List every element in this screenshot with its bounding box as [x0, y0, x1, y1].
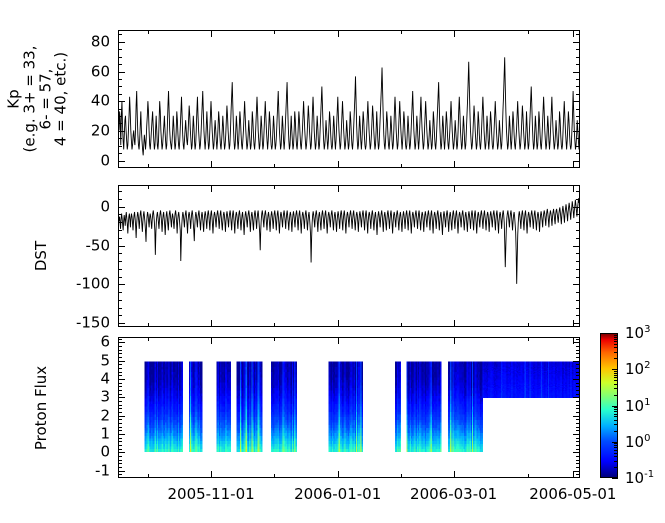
y-tick-major-right — [573, 452, 580, 453]
colorbar-tick-minor — [614, 420, 618, 421]
y-tick-minor — [118, 300, 122, 301]
y-tick-minor-right — [576, 372, 580, 373]
kp-trace — [119, 31, 579, 167]
y-tick-label: 5 — [100, 353, 110, 368]
y-tick-label: 3 — [100, 390, 110, 405]
y-tick-minor — [118, 419, 122, 420]
y-tick-label: -1 — [95, 463, 110, 478]
kp-panel — [118, 30, 580, 168]
y-tick-minor-right — [576, 86, 580, 87]
y-tick-minor — [118, 57, 122, 58]
y-tick-minor — [118, 386, 122, 387]
x-tick-minor — [274, 474, 275, 478]
x-tick-minor-top — [528, 185, 529, 189]
y-tick-minor — [118, 138, 122, 139]
y-tick-minor-right — [576, 463, 580, 464]
x-tick-minor — [528, 474, 529, 478]
colorbar-tick-minor — [614, 344, 618, 345]
y-tick-minor-right — [576, 191, 580, 192]
colorbar-tick-minor — [614, 447, 618, 448]
y-tick-minor — [118, 116, 122, 117]
y-tick-minor — [118, 261, 122, 262]
y-tick-minor-right — [576, 292, 580, 293]
y-tick-minor-right — [576, 350, 580, 351]
y-tick-minor — [118, 357, 122, 358]
x-tick-minor-top — [274, 337, 275, 341]
y-tick-minor-right — [576, 300, 580, 301]
x-tick-minor — [148, 323, 149, 327]
y-tick-minor — [118, 346, 122, 347]
colorbar-tick-minor — [614, 431, 618, 432]
x-tick-minor-top — [148, 337, 149, 341]
y-tick-major — [118, 416, 125, 417]
y-tick-minor — [118, 405, 122, 406]
y-tick-major-right — [573, 434, 580, 435]
y-tick-minor — [118, 214, 122, 215]
y-tick-minor-right — [576, 308, 580, 309]
y-tick-minor — [118, 364, 122, 365]
y-tick-label: 2 — [100, 408, 110, 423]
y-tick-minor — [118, 86, 122, 87]
y-tick-minor — [118, 222, 122, 223]
y-tick-minor — [118, 64, 122, 65]
x-tick-minor-top — [528, 30, 529, 34]
y-tick-label: 0 — [100, 199, 110, 214]
colorbar-tick-major — [612, 478, 618, 479]
x-tick-minor — [274, 323, 275, 327]
x-tick-minor-top — [528, 337, 529, 341]
x-tick-label: 2006-03-01 — [410, 487, 497, 502]
y-tick-minor — [118, 375, 122, 376]
y-tick-minor — [118, 449, 122, 450]
x-tick-major — [454, 320, 455, 327]
y-tick-label: 1 — [100, 427, 110, 442]
y-tick-minor — [118, 372, 122, 373]
y-tick-minor-right — [576, 199, 580, 200]
colorbar-tick-label: 103 — [625, 325, 650, 341]
kp-plot-area — [119, 31, 579, 167]
y-tick-label: 0 — [100, 153, 110, 168]
x-tick-major — [211, 161, 212, 168]
y-tick-minor — [118, 191, 122, 192]
y-tick-minor-right — [576, 315, 580, 316]
y-tick-minor-right — [576, 94, 580, 95]
y-tick-minor-right — [576, 222, 580, 223]
y-tick-minor — [118, 153, 122, 154]
y-tick-minor-right — [576, 153, 580, 154]
y-tick-minor-right — [576, 430, 580, 431]
y-tick-minor-right — [576, 438, 580, 439]
y-tick-minor — [118, 238, 122, 239]
y-tick-label: 20 — [91, 123, 110, 138]
y-tick-minor — [118, 269, 122, 270]
y-tick-major — [118, 246, 125, 247]
x-tick-major-top — [338, 185, 339, 192]
y-tick-minor-right — [576, 375, 580, 376]
x-tick-major-top — [454, 337, 455, 344]
axis-title-line: 4 = 40, etc.) — [54, 0, 70, 199]
colorbar-tick-minor — [614, 384, 618, 385]
x-tick-minor-top — [401, 185, 402, 189]
x-tick-major — [338, 320, 339, 327]
y-tick-minor-right — [576, 427, 580, 428]
x-tick-minor-top — [401, 337, 402, 341]
y-tick-minor-right — [576, 109, 580, 110]
y-tick-minor — [118, 401, 122, 402]
colorbar-tick-label: 100 — [625, 434, 650, 450]
y-tick-major-right — [573, 379, 580, 380]
x-tick-major-top — [338, 30, 339, 37]
y-tick-minor — [118, 412, 122, 413]
x-tick-minor — [148, 474, 149, 478]
y-tick-label: 80 — [91, 34, 110, 49]
y-tick-minor-right — [576, 368, 580, 369]
proton-flux-plot-area — [119, 338, 579, 477]
y-tick-minor-right — [576, 34, 580, 35]
y-tick-minor-right — [576, 277, 580, 278]
y-tick-minor — [118, 463, 122, 464]
colorbar-tick-minor — [614, 388, 618, 389]
y-tick-label: 6 — [100, 335, 110, 350]
y-tick-minor-right — [576, 394, 580, 395]
x-tick-minor — [274, 164, 275, 168]
colorbar-tick-minor — [614, 461, 618, 462]
colorbar-tick-minor — [614, 409, 618, 410]
x-tick-minor-top — [274, 30, 275, 34]
colorbar-tick-minor — [614, 375, 618, 376]
colorbar-tick-label: 10-1 — [625, 470, 654, 486]
y-tick-major — [118, 284, 125, 285]
y-tick-major-right — [573, 161, 580, 162]
y-tick-minor-right — [576, 390, 580, 391]
y-tick-minor-right — [576, 269, 580, 270]
colorbar-tick-minor — [614, 371, 618, 372]
y-tick-minor — [118, 445, 122, 446]
x-tick-minor — [401, 323, 402, 327]
colorbar-tick-minor — [614, 407, 618, 408]
y-tick-minor-right — [576, 253, 580, 254]
y-tick-minor — [118, 350, 122, 351]
x-tick-label: 2006-01-01 — [294, 487, 381, 502]
y-tick-minor — [118, 390, 122, 391]
y-tick-minor — [118, 394, 122, 395]
y-tick-minor-right — [576, 49, 580, 50]
y-tick-minor-right — [576, 383, 580, 384]
y-tick-minor — [118, 456, 122, 457]
x-tick-major — [211, 320, 212, 327]
y-tick-minor-right — [576, 123, 580, 124]
x-tick-major-top — [211, 337, 212, 344]
x-tick-major — [573, 320, 574, 327]
y-tick-minor — [118, 438, 122, 439]
y-tick-minor-right — [576, 474, 580, 475]
colorbar-tick-minor — [614, 377, 618, 378]
x-tick-minor-top — [401, 30, 402, 34]
colorbar-tick-minor — [614, 373, 618, 374]
y-tick-label: 0 — [100, 445, 110, 460]
y-tick-minor — [118, 34, 122, 35]
colorbar-tick-minor — [614, 445, 618, 446]
colorbar-tick-minor — [614, 411, 618, 412]
colorbar-tick-minor — [614, 380, 618, 381]
x-tick-major-top — [338, 337, 339, 344]
y-tick-major — [118, 101, 125, 102]
proton-flux-heatmap — [119, 338, 579, 477]
x-tick-major — [338, 161, 339, 168]
x-tick-major — [338, 471, 339, 478]
x-tick-label: 2006-05-01 — [529, 487, 616, 502]
y-tick-minor — [118, 408, 122, 409]
y-tick-minor-right — [576, 441, 580, 442]
y-tick-minor-right — [576, 146, 580, 147]
y-tick-major-right — [573, 207, 580, 208]
colorbar-tick-minor — [614, 424, 618, 425]
y-tick-label: 60 — [91, 64, 110, 79]
y-tick-major — [118, 452, 125, 453]
y-tick-minor-right — [576, 339, 580, 340]
colorbar-tick-minor — [614, 358, 618, 359]
x-tick-major — [454, 161, 455, 168]
y-tick-minor-right — [576, 346, 580, 347]
x-tick-minor — [528, 164, 529, 168]
colorbar-tick-minor — [614, 335, 618, 336]
y-tick-minor-right — [576, 364, 580, 365]
y-tick-minor — [118, 427, 122, 428]
y-tick-major-right — [573, 131, 580, 132]
proton-flux-panel — [118, 337, 580, 478]
y-tick-minor-right — [576, 261, 580, 262]
y-tick-label: 4 — [100, 372, 110, 387]
y-tick-major-right — [573, 361, 580, 362]
y-tick-major-right — [573, 342, 580, 343]
y-tick-minor-right — [576, 386, 580, 387]
y-tick-major-right — [573, 397, 580, 398]
y-tick-major-right — [573, 101, 580, 102]
x-tick-major-top — [454, 30, 455, 37]
y-tick-minor — [118, 430, 122, 431]
y-tick-minor — [118, 474, 122, 475]
colorbar-tick-minor — [614, 443, 618, 444]
y-tick-label: -150 — [76, 316, 110, 331]
y-tick-minor-right — [576, 405, 580, 406]
y-tick-major — [118, 42, 125, 43]
y-tick-major-right — [573, 416, 580, 417]
y-tick-minor-right — [576, 138, 580, 139]
y-tick-major-right — [573, 471, 580, 472]
y-tick-minor-right — [576, 445, 580, 446]
y-tick-minor-right — [576, 449, 580, 450]
y-tick-minor-right — [576, 460, 580, 461]
y-tick-minor-right — [576, 423, 580, 424]
y-tick-minor — [118, 49, 122, 50]
y-tick-minor — [118, 467, 122, 468]
y-tick-major — [118, 397, 125, 398]
colorbar-tick-minor — [614, 456, 618, 457]
y-tick-minor — [118, 199, 122, 200]
y-tick-minor-right — [576, 467, 580, 468]
x-tick-major — [454, 471, 455, 478]
y-tick-minor-right — [576, 401, 580, 402]
y-tick-major — [118, 72, 125, 73]
y-tick-minor — [118, 79, 122, 80]
y-tick-major — [118, 471, 125, 472]
x-tick-major — [573, 161, 574, 168]
y-tick-major — [118, 323, 125, 324]
x-tick-major — [211, 471, 212, 478]
y-tick-minor — [118, 353, 122, 354]
y-tick-minor-right — [576, 57, 580, 58]
dst-panel — [118, 185, 580, 327]
x-tick-minor-top — [148, 30, 149, 34]
colorbar-tick-minor — [614, 414, 618, 415]
y-tick-minor-right — [576, 353, 580, 354]
y-tick-major — [118, 131, 125, 132]
y-tick-minor-right — [576, 456, 580, 457]
y-tick-major — [118, 161, 125, 162]
y-tick-major-right — [573, 42, 580, 43]
dst-plot-area — [119, 186, 579, 326]
y-tick-label: -100 — [76, 277, 110, 292]
y-tick-major — [118, 379, 125, 380]
y-tick-major-right — [573, 323, 580, 324]
y-tick-minor-right — [576, 238, 580, 239]
y-tick-minor — [118, 460, 122, 461]
y-tick-minor-right — [576, 79, 580, 80]
y-tick-minor — [118, 368, 122, 369]
x-tick-major-top — [454, 185, 455, 192]
y-tick-major — [118, 434, 125, 435]
x-tick-major-top — [211, 185, 212, 192]
x-tick-minor — [401, 164, 402, 168]
colorbar-tick-minor — [614, 450, 618, 451]
y-tick-minor-right — [576, 214, 580, 215]
y-tick-minor — [118, 308, 122, 309]
dst-trace — [119, 186, 579, 326]
y-tick-minor — [118, 292, 122, 293]
y-tick-minor — [118, 146, 122, 147]
y-tick-major-right — [573, 246, 580, 247]
axis-title-line: Proton Flux — [34, 308, 50, 508]
y-tick-minor-right — [576, 408, 580, 409]
y-tick-minor-right — [576, 116, 580, 117]
y-tick-minor-right — [576, 230, 580, 231]
y-tick-major — [118, 342, 125, 343]
colorbar-tick-minor — [614, 416, 618, 417]
x-tick-major-top — [573, 30, 574, 37]
colorbar-tick-minor — [614, 395, 618, 396]
figure-canvas: 020406080 Kp(e.g. 3+ = 33,6- = 57,4 = 40… — [0, 0, 665, 523]
x-tick-major-top — [573, 337, 574, 344]
y-tick-minor — [118, 423, 122, 424]
colorbar-tick-label: 101 — [625, 398, 650, 414]
x-tick-minor-top — [148, 185, 149, 189]
y-tick-major — [118, 207, 125, 208]
x-tick-major-top — [211, 30, 212, 37]
y-tick-minor-right — [576, 412, 580, 413]
y-tick-label: 40 — [91, 94, 110, 109]
y-tick-minor — [118, 94, 122, 95]
y-tick-minor-right — [576, 357, 580, 358]
y-tick-minor-right — [576, 64, 580, 65]
x-tick-minor — [401, 474, 402, 478]
y-tick-minor — [118, 277, 122, 278]
y-tick-minor — [118, 230, 122, 231]
colorbar-tick-minor — [614, 467, 618, 468]
y-tick-label: -50 — [86, 238, 111, 253]
colorbar-tick-minor — [614, 453, 618, 454]
colorbar-tick-label: 102 — [625, 361, 650, 377]
colorbar-tick-minor — [614, 341, 618, 342]
x-tick-minor — [148, 164, 149, 168]
colorbar-tick-minor — [614, 339, 618, 340]
y-tick-minor-right — [576, 419, 580, 420]
y-tick-major — [118, 361, 125, 362]
colorbar-tick-minor — [614, 337, 618, 338]
y-tick-minor — [118, 123, 122, 124]
proton-flux-axis-title: Proton Flux — [34, 308, 50, 508]
x-tick-minor — [528, 323, 529, 327]
y-tick-minor — [118, 109, 122, 110]
y-tick-minor — [118, 315, 122, 316]
y-tick-major-right — [573, 284, 580, 285]
colorbar-tick-minor — [614, 352, 618, 353]
x-tick-label: 2005-11-01 — [167, 487, 254, 502]
y-tick-minor — [118, 253, 122, 254]
x-tick-major-top — [573, 185, 574, 192]
x-tick-major — [573, 471, 574, 478]
y-tick-major-right — [573, 72, 580, 73]
y-tick-minor — [118, 339, 122, 340]
x-tick-minor-top — [274, 185, 275, 189]
y-tick-minor — [118, 441, 122, 442]
colorbar-tick-minor — [614, 347, 618, 348]
y-tick-minor — [118, 383, 122, 384]
